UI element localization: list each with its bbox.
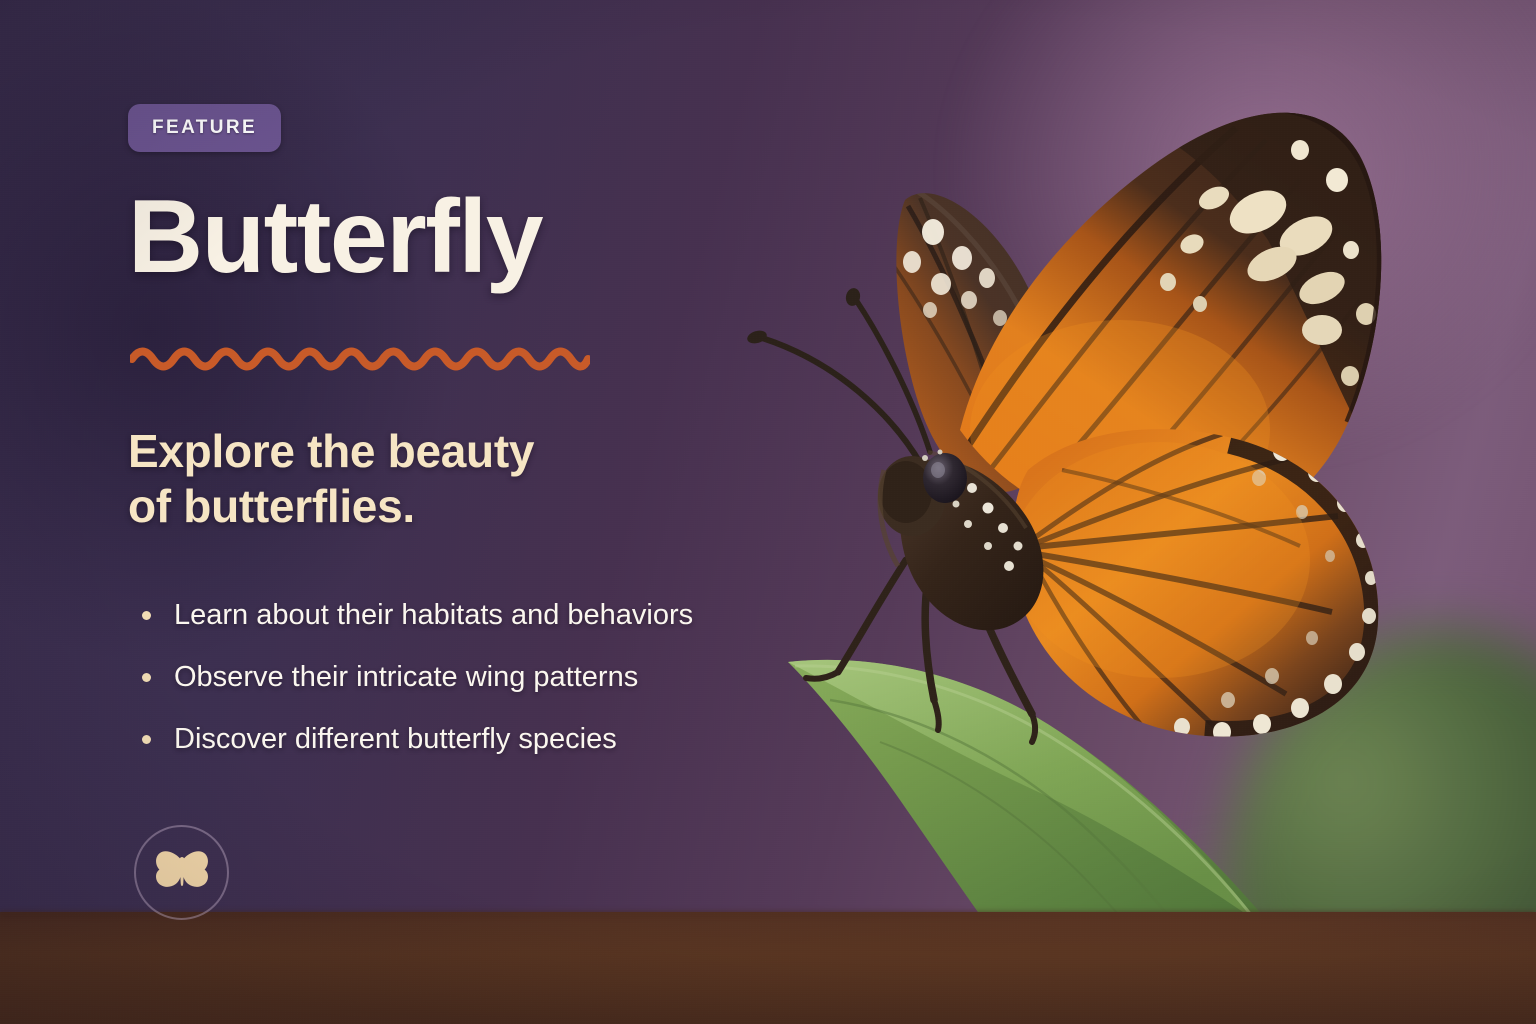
vignette-overlay	[0, 0, 1536, 1024]
hero-banner: FEATURE Butterfly Explore the beauty of …	[0, 0, 1536, 1024]
